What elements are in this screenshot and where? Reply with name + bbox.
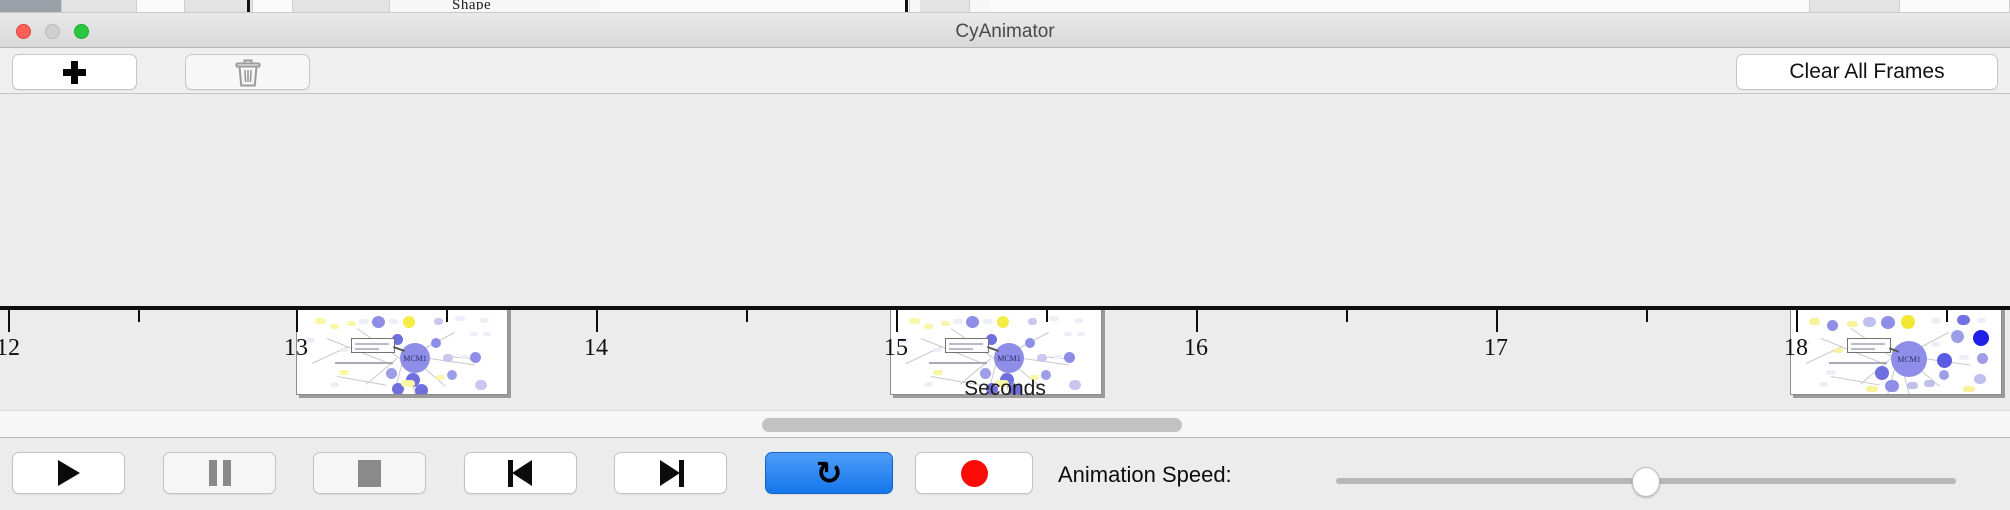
axis-tick-label: 13	[284, 335, 308, 362]
timeline-panel[interactable]: MCM1	[0, 94, 2010, 410]
timeline-scrollbar[interactable]	[0, 410, 2010, 438]
axis-tick-label: 17	[1484, 335, 1508, 362]
axis-tick-minor	[446, 310, 448, 322]
network-hub-node: MCM1	[400, 343, 430, 373]
axis-tick-minor	[1046, 310, 1048, 322]
delete-frame-button[interactable]	[185, 54, 310, 90]
axis-tick-major	[596, 310, 598, 332]
animation-speed-slider-thumb[interactable]	[1632, 467, 1660, 497]
background-window-strip: Shape	[0, 0, 2010, 13]
axis-tick-major	[896, 310, 898, 332]
title-bar: CyAnimator	[0, 13, 2010, 48]
axis-tick-major	[296, 310, 298, 332]
animation-speed-label: Animation Speed:	[1058, 462, 1232, 488]
pause-icon	[209, 460, 231, 486]
trash-icon	[235, 57, 261, 87]
playback-controls: ↻ Animation Speed:	[0, 438, 2010, 510]
window-title: CyAnimator	[0, 21, 2010, 43]
loop-button[interactable]: ↻	[765, 452, 893, 494]
play-icon	[58, 460, 80, 486]
network-callout	[1847, 338, 1891, 353]
axis-tick-major	[1196, 310, 1198, 332]
background-window-label: Shape	[452, 0, 491, 10]
axis-tick-minor	[138, 310, 140, 322]
axis-tick-major	[1796, 310, 1798, 332]
stop-icon	[358, 460, 381, 487]
clear-all-frames-label: Clear All Frames	[1789, 60, 1944, 84]
skip-to-end-button[interactable]	[614, 452, 727, 494]
cyanimator-window: Shape CyAnimator Clear Al	[0, 0, 2010, 510]
axis-tick-label: 18	[1784, 335, 1808, 362]
pause-button[interactable]	[163, 452, 276, 494]
network-hub-node: MCM1	[1891, 341, 1927, 377]
network-callout	[945, 338, 989, 353]
record-button[interactable]	[915, 452, 1033, 494]
scrollbar-thumb[interactable]	[762, 418, 1182, 432]
play-button[interactable]	[12, 452, 125, 494]
skip-backward-icon	[508, 460, 534, 487]
timeline-axis	[0, 306, 2010, 310]
axis-title: Seconds	[0, 377, 2010, 401]
axis-tick-label: 16	[1184, 335, 1208, 362]
plus-icon	[63, 61, 86, 84]
clear-all-frames-button[interactable]: Clear All Frames	[1736, 54, 1998, 90]
network-callout	[351, 338, 395, 353]
record-icon	[961, 460, 988, 487]
axis-tick-minor	[1346, 310, 1348, 322]
network-hub-node: MCM1	[994, 343, 1024, 373]
add-frame-button[interactable]	[12, 54, 137, 90]
axis-tick-label: 14	[584, 335, 608, 362]
axis-tick-major	[8, 310, 10, 332]
axis-tick-minor	[1646, 310, 1648, 322]
axis-tick-major	[1496, 310, 1498, 332]
skip-to-start-button[interactable]	[464, 452, 577, 494]
stop-button[interactable]	[313, 452, 426, 494]
axis-tick-label: 15	[884, 335, 908, 362]
axis-tick-label: 12	[0, 335, 20, 362]
axis-tick-minor	[746, 310, 748, 322]
axis-tick-minor	[1946, 310, 1948, 322]
toolbar: Clear All Frames	[0, 48, 2010, 94]
skip-forward-icon	[658, 460, 684, 487]
loop-icon: ↻	[816, 457, 843, 489]
